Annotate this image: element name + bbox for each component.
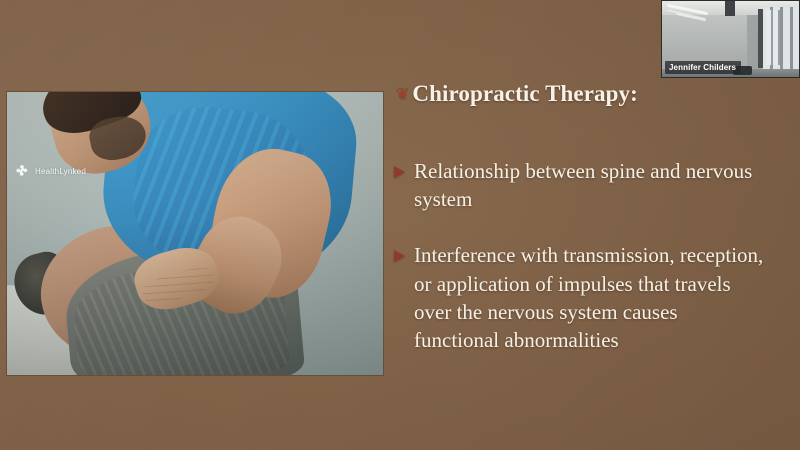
photo-canvas <box>7 92 383 375</box>
triangle-right-bullet-icon <box>394 166 405 178</box>
video-ceiling-beam <box>725 1 735 16</box>
chiropractic-photo: HealthLynked <box>7 92 383 375</box>
healthlynked-watermark: HealthLynked <box>16 164 86 178</box>
slide-title-row: ❦ Chiropractic Therapy: <box>396 80 794 107</box>
slide-content: ❦ Chiropractic Therapy: Relationship bet… <box>394 80 794 382</box>
list-item: Relationship between spine and nervous s… <box>394 157 794 213</box>
list-item-text: Interference with transmission, receptio… <box>414 241 766 354</box>
participant-video-tile[interactable]: Jennifer Childers <box>661 0 800 78</box>
presentation-screen: HealthLynked ❦ Chiropractic Therapy: Rel… <box>0 0 800 450</box>
triangle-right-bullet-icon <box>394 250 405 262</box>
floral-ornament-icon: ❦ <box>396 87 409 103</box>
healthlynked-watermark-text: HealthLynked <box>35 167 86 176</box>
page-title: Chiropractic Therapy: <box>412 80 638 107</box>
video-window-secondary <box>766 10 780 65</box>
list-item-text: Relationship between spine and nervous s… <box>414 157 766 213</box>
healthlynked-cross-logo <box>16 164 30 178</box>
list-item: Interference with transmission, receptio… <box>394 241 794 354</box>
bullet-list: Relationship between spine and nervous s… <box>394 157 794 354</box>
participant-name-label: Jennifer Childers <box>665 61 741 74</box>
